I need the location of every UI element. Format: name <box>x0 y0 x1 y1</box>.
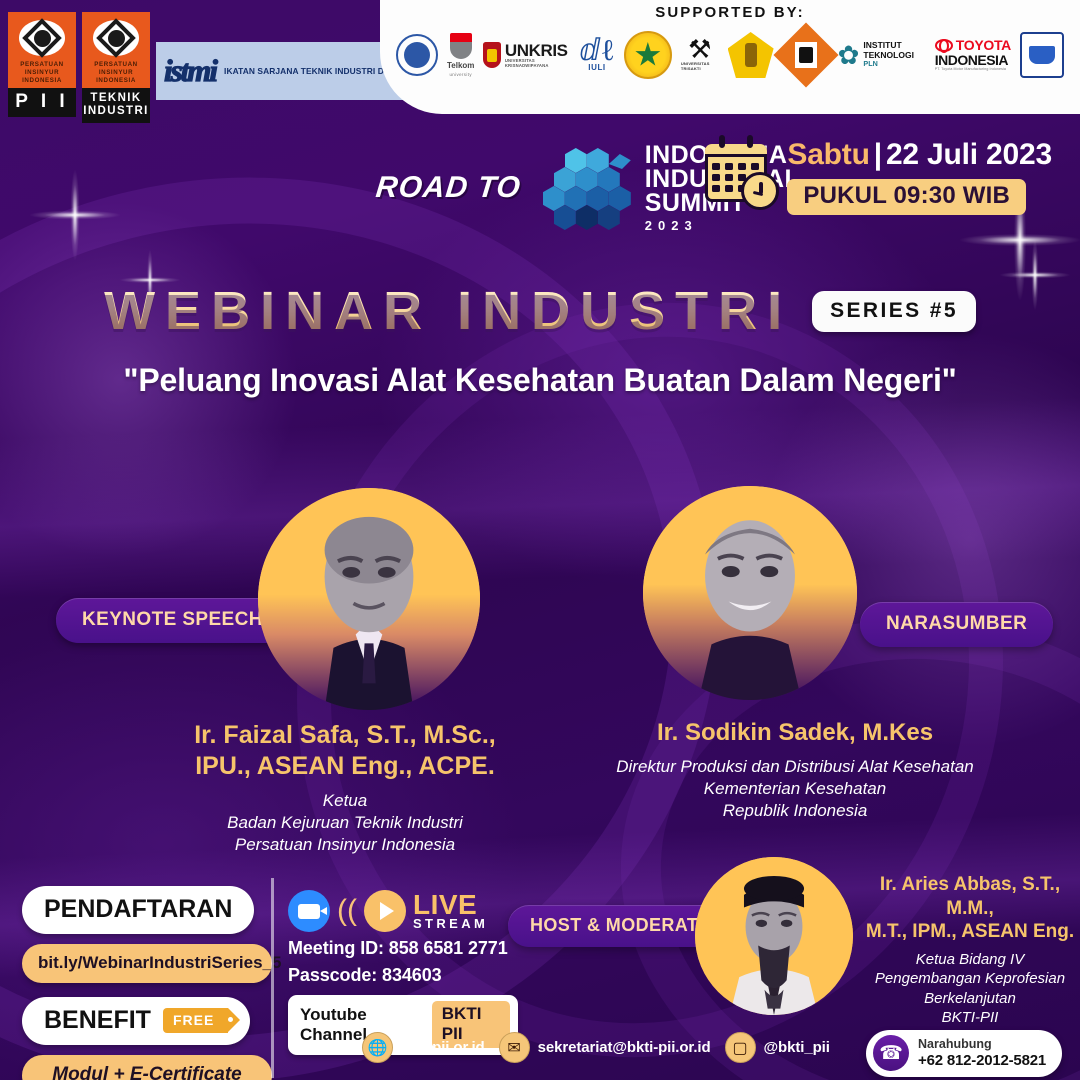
globe-icon: 🌐 <box>362 1032 393 1063</box>
webinar-poster: PERSATUAN INSINYUR INDONESIA P I I PERSA… <box>0 0 1080 1080</box>
toyota-label: TOYOTA <box>956 38 1011 53</box>
toyota-sublabel: PT. Toyota Motor Manufacturing Indonesia <box>935 68 1006 72</box>
itpln-leaf-icon: ✿ <box>838 45 860 66</box>
supported-by-title: SUPPORTED BY: <box>655 4 805 21</box>
sponsor-institut-teknologi-pln-logo: ✿ INSTITUT TEKNOLOGI PLN <box>838 30 926 80</box>
host-portrait-icon <box>695 857 853 1015</box>
pii-logo-caption: PERSATUAN INSINYUR INDONESIA <box>8 58 76 88</box>
sponsor-logo-row: Telkom university UNKRIS UNIVERSITAS KRI… <box>380 30 1080 80</box>
narasumber-speaker-role: Direktur Produksi dan Distribusi Alat Ke… <box>555 756 1035 822</box>
meeting-id: Meeting ID: 858 6581 2771 <box>288 938 518 959</box>
background-band-decoration <box>0 394 1080 601</box>
livestream-section: (( LIVE STREAM Meeting ID: 858 6581 2771… <box>288 890 518 1055</box>
sponsor-universitas-pancasila-logo <box>728 30 774 80</box>
contact-strip: 🌐 bkti-pii.or.id ✉ sekretariat@bkti-pii.… <box>362 1032 830 1063</box>
live-label: LIVE <box>413 892 488 919</box>
trisakti-trident-icon: ⚒ <box>688 39 711 60</box>
email-contact[interactable]: ✉ sekretariat@bkti-pii.or.id <box>499 1032 711 1063</box>
telkom-sublabel: university <box>449 72 472 77</box>
page-title: WEBINAR INDUSTRI <box>104 280 792 342</box>
summit-year: 2023 <box>645 220 800 232</box>
benefit-label: BENEFIT <box>44 1006 151 1035</box>
envelope-icon: ✉ <box>499 1032 530 1063</box>
pii-logo-plate: P I I <box>8 88 76 117</box>
itpln-sublabel: PLN <box>863 60 925 68</box>
zoom-camera-icon <box>288 890 330 932</box>
iuli-glyph-icon: ⅆℓ <box>579 38 615 64</box>
host-moderator-avatar <box>695 857 853 1015</box>
instagram-text: @bkti_pii <box>764 1039 830 1056</box>
sponsor-yellow-star-seal-logo <box>624 30 672 80</box>
phone-icon: ☎ <box>873 1035 909 1071</box>
sponsor-unkris-logo: UNKRIS UNIVERSITAS KRISNADWIPAYANA <box>483 30 570 80</box>
top-logo-bar: PERSATUAN INSINYUR INDONESIA P I I PERSA… <box>0 0 1080 120</box>
keynote-portrait-icon <box>258 488 480 710</box>
telkom-mark-icon <box>448 33 474 59</box>
narasumber-badge: NARASUMBER <box>860 602 1053 647</box>
registration-link[interactable]: bit.ly/WebinarIndustriSeries_5 <box>22 944 272 983</box>
datetime-separator: | <box>874 138 882 171</box>
sponsor-toyota-indonesia-logo: TOYOTA INDONESIA PT. Toyota Motor Manufa… <box>935 30 1011 80</box>
sponsor-teknologi-indonesia-seal-logo <box>1020 30 1064 80</box>
pii-ti-logo-caption: PERSATUAN INSINYUR INDONESIA <box>82 58 150 88</box>
itpln-label: INSTITUT TEKNOLOGI <box>863 41 925 60</box>
narahubung-contact-badge[interactable]: ☎ Narahubung +62 812-2012-5821 <box>866 1030 1062 1077</box>
sponsor-universitas-trisakti-logo: ⚒ UNIVERSITAS TRISAKTI <box>681 30 719 80</box>
narahubung-label: Narahubung <box>918 1037 1046 1052</box>
unkris-shield-icon <box>483 42 500 68</box>
toyota-label2: INDONESIA <box>935 53 1008 68</box>
supported-by-panel: SUPPORTED BY: Telkom university UNKRIS U… <box>380 0 1080 114</box>
narasumber-speaker-name: Ir. Sodikin Sadek, M.Kes <box>555 718 1035 748</box>
keynote-speech-badge: KEYNOTE SPEECH <box>56 598 289 643</box>
indonesia-industrial-summit-hex-logo <box>543 146 631 230</box>
play-button-icon <box>364 890 406 932</box>
passcode: Passcode: 834603 <box>288 965 518 986</box>
title-section: WEBINAR INDUSTRI SERIES #5 "Peluang Inov… <box>0 280 1080 399</box>
page-subtitle: "Peluang Inovasi Alat Kesehatan Buatan D… <box>0 362 1080 399</box>
narasumber-speaker-avatar <box>643 486 857 700</box>
registration-section: PENDAFTARAN bit.ly/WebinarIndustriSeries… <box>22 886 272 1080</box>
keynote-speaker-avatar <box>258 488 480 710</box>
istmi-wordmark: istmi <box>164 53 216 89</box>
free-tag-badge: FREE <box>163 1008 228 1033</box>
website-contact[interactable]: 🌐 bkti-pii.or.id <box>362 1032 485 1063</box>
host-moderator-role: Ketua Bidang IV Pengembangan Keprofesian… <box>857 950 1080 1028</box>
unkris-label: UNKRIS <box>505 42 570 59</box>
road-to-label: ROAD TO <box>374 171 522 205</box>
pii-logo: PERSATUAN INSINYUR INDONESIA P I I <box>8 12 76 117</box>
telkom-label: Telkom <box>447 61 474 70</box>
pii-teknik-industri-logo: PERSATUAN INSINYUR INDONESIA TEKNIK INDU… <box>82 12 150 123</box>
unkris-sublabel: UNIVERSITAS KRISNADWIPAYANA <box>505 59 570 67</box>
instagram-icon: ▢ <box>725 1032 756 1063</box>
pii-ti-logo-plate: TEKNIK INDUSTRI <box>82 88 150 123</box>
event-time-badge: PUKUL 09:30 WIB <box>787 179 1026 215</box>
narahubung-phone: +62 812-2012-5821 <box>918 1052 1046 1069</box>
instagram-contact[interactable]: ▢ @bkti_pii <box>725 1032 830 1063</box>
vertical-divider <box>271 878 274 1078</box>
narasumber-portrait-icon <box>643 486 857 700</box>
iuli-label: IULI <box>588 63 606 72</box>
toyota-emblem-icon <box>935 39 953 52</box>
keynote-speaker-name: Ir. Faizal Safa, S.T., M.Sc., IPU., ASEA… <box>130 720 560 782</box>
website-text: bkti-pii.or.id <box>401 1039 485 1056</box>
series-badge: SERIES #5 <box>812 291 976 332</box>
registration-heading: PENDAFTARAN <box>22 886 254 934</box>
benefit-row: BENEFIT FREE <box>22 997 250 1045</box>
event-day: Sabtu <box>787 138 869 171</box>
sponsor-diamond-seal-logo <box>783 30 829 80</box>
pii-emblem-icon <box>19 18 65 58</box>
livestream-header: (( LIVE STREAM <box>288 890 518 932</box>
pii-ti-emblem-icon <box>93 18 139 58</box>
calendar-clock-icon <box>703 136 775 208</box>
trisakti-label: UNIVERSITAS TRISAKTI <box>681 61 719 71</box>
email-text: sekretariat@bkti-pii.or.id <box>538 1039 711 1056</box>
sponsor-telkom-logo: Telkom university <box>447 30 474 80</box>
broadcast-waves-icon: (( <box>337 899 357 923</box>
keynote-speaker-role: Ketua Badan Kejuruan Teknik Industri Per… <box>130 790 560 856</box>
event-datetime-block: Sabtu|22 Juli 2023 PUKUL 09:30 WIB <box>703 136 1052 215</box>
host-moderator-name: Ir. Aries Abbas, S.T., M.M., M.T., IPM.,… <box>857 873 1080 944</box>
stream-label: STREAM <box>413 918 488 930</box>
sponsor-universitas-seal-logo <box>396 30 438 80</box>
sponsor-iuli-logo: ⅆℓ IULI <box>579 30 615 80</box>
benefit-value: Modul + E-Certificate <box>22 1055 272 1080</box>
host-moderator-block: HOST & MODERATOR Ir. Aries Abbas, S.T., … <box>505 845 1080 1045</box>
event-date: 22 Juli 2023 <box>886 138 1052 171</box>
free-tag-label: FREE <box>173 1012 214 1028</box>
